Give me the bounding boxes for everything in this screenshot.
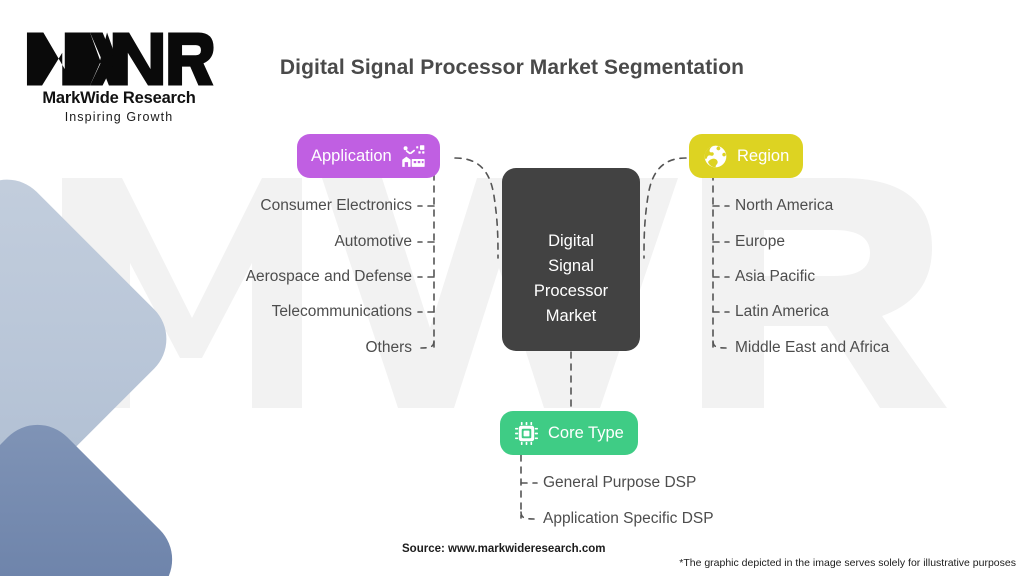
center-node: Digital Signal Processor Market	[502, 168, 640, 351]
center-line-3: Processor	[534, 279, 608, 304]
leaf-application-4: Others	[365, 339, 412, 357]
center-line-2: Signal	[534, 254, 608, 279]
leaf-application-1: Automotive	[334, 233, 412, 251]
center-node-label: Digital Signal Processor Market	[534, 229, 608, 329]
leaf-coretype-1: Application Specific DSP	[543, 510, 714, 528]
infographic-canvas: MarkWide Research Inspiring Growth Digit…	[0, 0, 1024, 576]
disclaimer-text: *The graphic depicted in the image serve…	[679, 557, 1016, 569]
branch-badge-coretype[interactable]: Core Type	[500, 411, 638, 455]
center-line-4: Market	[534, 304, 608, 329]
factory-robot-arm-icon	[401, 144, 426, 169]
branch-label-region: Region	[737, 147, 789, 166]
leaf-region-1: Europe	[735, 233, 785, 251]
leaf-application-3: Telecommunications	[272, 303, 412, 321]
leaf-region-0: North America	[735, 197, 833, 215]
branch-label-application: Application	[311, 147, 392, 166]
center-line-1: Digital	[534, 229, 608, 254]
microchip-icon	[514, 421, 539, 446]
leaf-application-2: Aerospace and Defense	[246, 268, 412, 286]
leaf-region-3: Latin America	[735, 303, 829, 321]
globe-icon	[703, 144, 728, 169]
leaf-region-4: Middle East and Africa	[735, 339, 889, 357]
source-text: Source: www.markwideresearch.com	[402, 543, 605, 555]
leaf-region-2: Asia Pacific	[735, 268, 815, 286]
branch-label-coretype: Core Type	[548, 424, 624, 443]
branch-badge-application[interactable]: Application	[297, 134, 440, 178]
branch-badge-region[interactable]: Region	[689, 134, 803, 178]
leaf-coretype-0: General Purpose DSP	[543, 474, 696, 492]
leaf-application-0: Consumer Electronics	[260, 197, 412, 215]
